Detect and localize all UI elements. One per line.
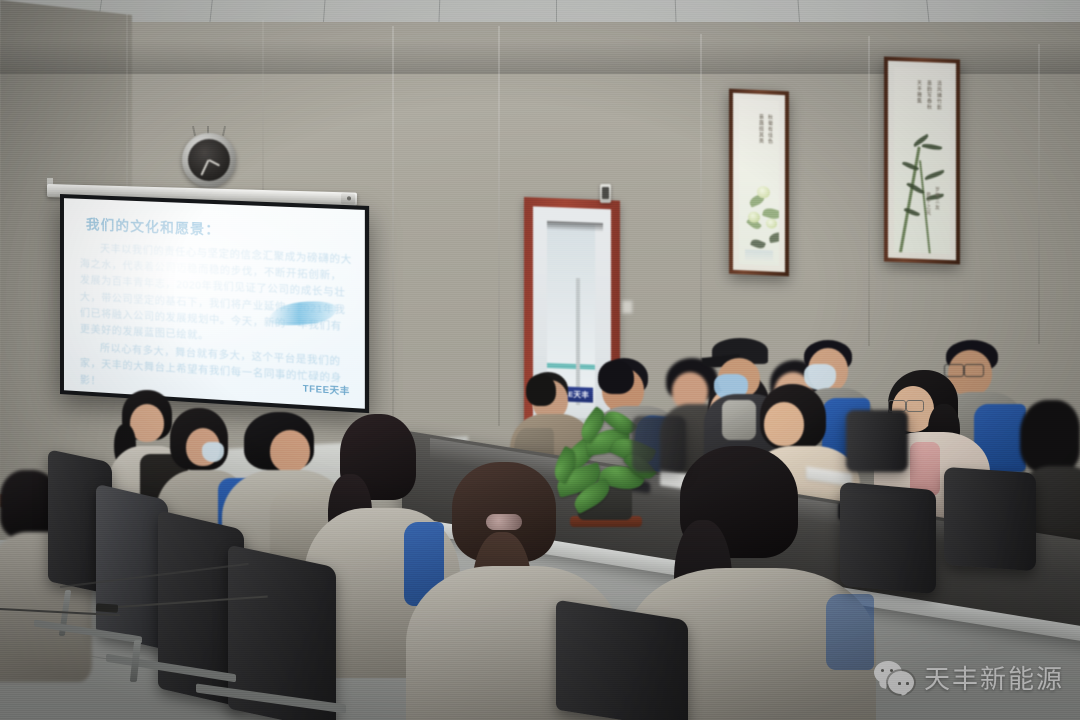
- clock-hour-hand: [209, 159, 221, 166]
- wall-panel-seam: [262, 20, 264, 190]
- watermark-account-name: 天丰新能源: [924, 659, 1064, 696]
- wall-panel-seam: [392, 26, 394, 456]
- watermark: 天丰新能源: [874, 659, 1064, 696]
- wall-outlet: [622, 300, 633, 314]
- conference-chair[interactable]: [556, 600, 688, 720]
- wall-speaker-icon: [600, 184, 611, 203]
- projection-screen: 我们的文化和愿景： 天丰以我们的责任心与坚定的信念汇聚成为磅礴的大海之水，代表着…: [60, 194, 369, 413]
- cable-plug: [96, 603, 119, 613]
- photo-scene: 我们的文化和愿景： 天丰以我们的责任心与坚定的信念汇聚成为磅礴的大海之水，代表着…: [0, 0, 1080, 720]
- wechat-icon: [874, 661, 914, 694]
- wall-panel-seam: [700, 34, 702, 364]
- face-mask: [202, 442, 224, 462]
- framed-painting-chrysanthemum: 秋菊有佳色 裛露掇其英: [729, 89, 789, 277]
- wall-panel-seam: [1038, 44, 1040, 344]
- clock-minute-hand: [201, 160, 210, 176]
- conference-chair[interactable]: [840, 482, 936, 594]
- eyeglasses: [964, 364, 984, 377]
- wall-panel-seam: [868, 36, 870, 346]
- presentation-slide: 我们的文化和愿景： 天丰以我们的责任心与坚定的信念汇聚成为磅礴的大海之水，代表着…: [64, 198, 365, 409]
- wall-panel-seam: [498, 26, 500, 426]
- eyeglasses: [944, 364, 964, 377]
- wall-clock: [182, 133, 236, 187]
- face-mask: [804, 364, 836, 390]
- conference-chair[interactable]: [632, 416, 686, 472]
- conference-chair[interactable]: [846, 410, 908, 472]
- screen-glare: [64, 198, 365, 409]
- framed-painting-bamboo: 清风拂竹影 墨韵写春秋 天丰雅集 岁寒三友 君子之风: [884, 57, 960, 265]
- eyeglasses: [906, 400, 924, 412]
- conference-chair[interactable]: [944, 467, 1036, 571]
- clock-face: [188, 139, 230, 181]
